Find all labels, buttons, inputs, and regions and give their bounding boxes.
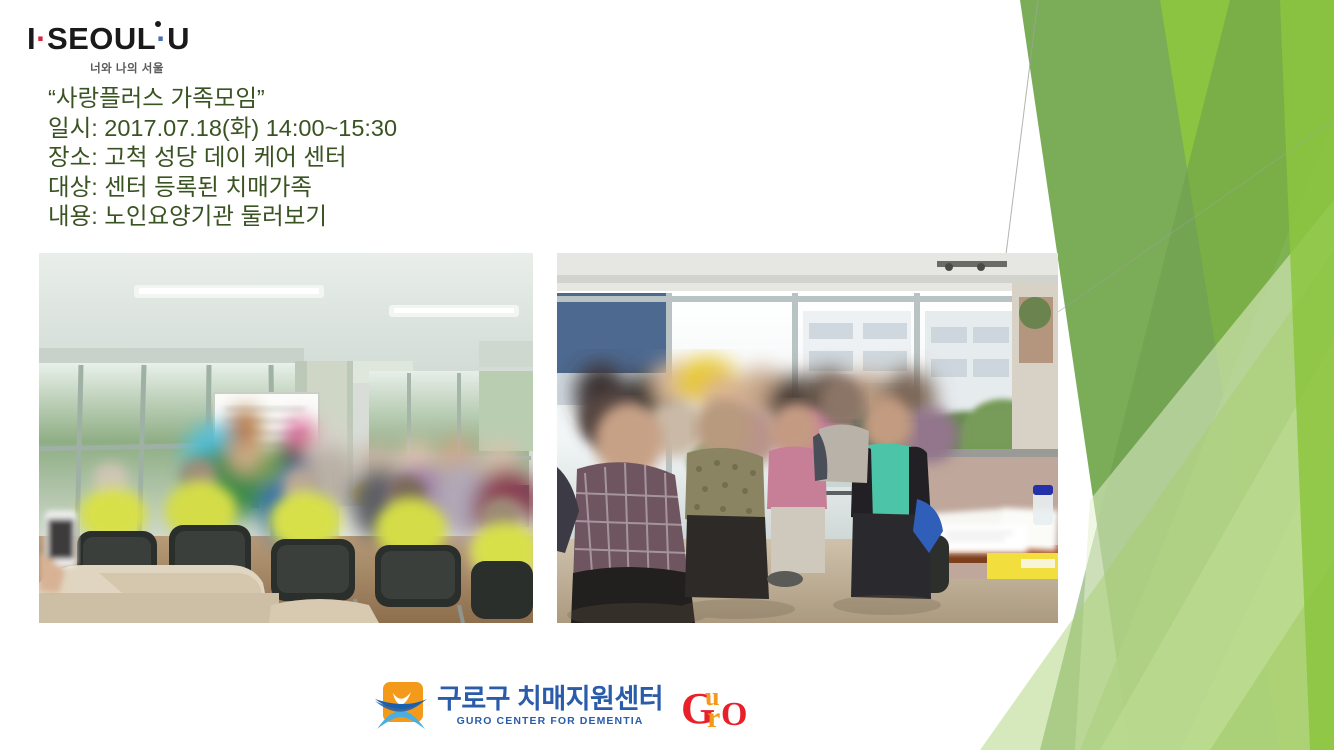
event-description: 내용: 노인요양기관 둘러보기 — [48, 202, 668, 232]
svg-text:O: O — [721, 696, 747, 729]
seoul-dot-red: · — [36, 21, 47, 56]
seoul-letter-i: I — [27, 21, 36, 56]
event-info-textblock: “사랑플러스 가족모임” 일시: 2017.07.18(화) 14:00~15:… — [48, 84, 668, 232]
guro-center-name: 구로구 치매지원센터 GURO CENTER FOR DEMENTIA — [437, 684, 663, 727]
event-title: “사랑플러스 가족모임” — [48, 84, 668, 114]
event-location: 장소: 고척 성당 데이 케어 센터 — [48, 143, 668, 173]
i-seoul-u-logo: I·SEOUL·U 너와 나의 서울 — [27, 22, 242, 77]
seoul-tagline: 너와 나의 서울 — [27, 60, 227, 76]
guro-city-logo-icon: G u r O — [679, 681, 751, 729]
guro-center-name-kr: 구로구 치매지원센터 — [437, 684, 663, 714]
facility-tour-photo — [557, 253, 1058, 623]
event-datetime: 일시: 2017.07.18(화) 14:00~15:30 — [48, 114, 668, 144]
guro-center-symbol-icon — [375, 679, 427, 731]
footer-logo-group: 구로구 치매지원센터 GURO CENTER FOR DEMENTIA G u … — [375, 676, 795, 734]
seoul-letter-u: U — [167, 21, 190, 56]
guro-center-name-en: GURO CENTER FOR DEMENTIA — [437, 715, 663, 727]
group-meeting-room-photo — [39, 253, 533, 623]
slide-canvas: I·SEOUL·U 너와 나의 서울 “사랑플러스 가족모임” 일시: 2017… — [0, 0, 1334, 750]
seoul-o-accent-dot-icon — [155, 21, 161, 27]
seoul-word: SEOUL — [47, 21, 156, 56]
event-audience: 대상: 센터 등록된 치매가족 — [48, 173, 668, 203]
svg-text:r: r — [707, 701, 720, 729]
seoul-wordmark: I·SEOUL·U — [27, 22, 242, 56]
